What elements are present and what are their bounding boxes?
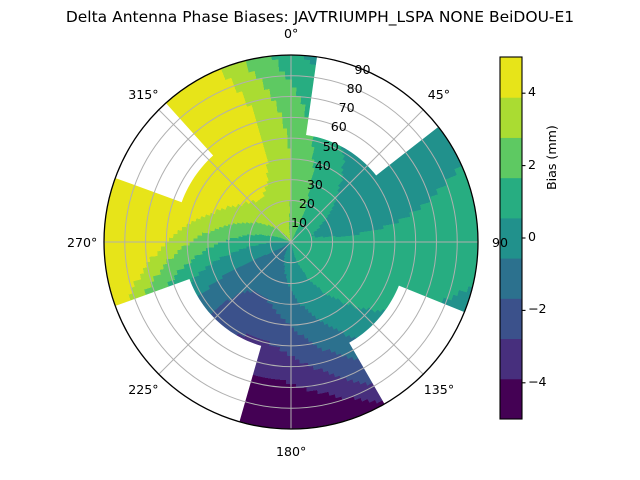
figure-canvas: Delta Antenna Phase Biases: JAVTRIUMPH_L… — [0, 0, 640, 480]
page-title: Delta Antenna Phase Biases: JAVTRIUMPH_L… — [0, 8, 640, 26]
